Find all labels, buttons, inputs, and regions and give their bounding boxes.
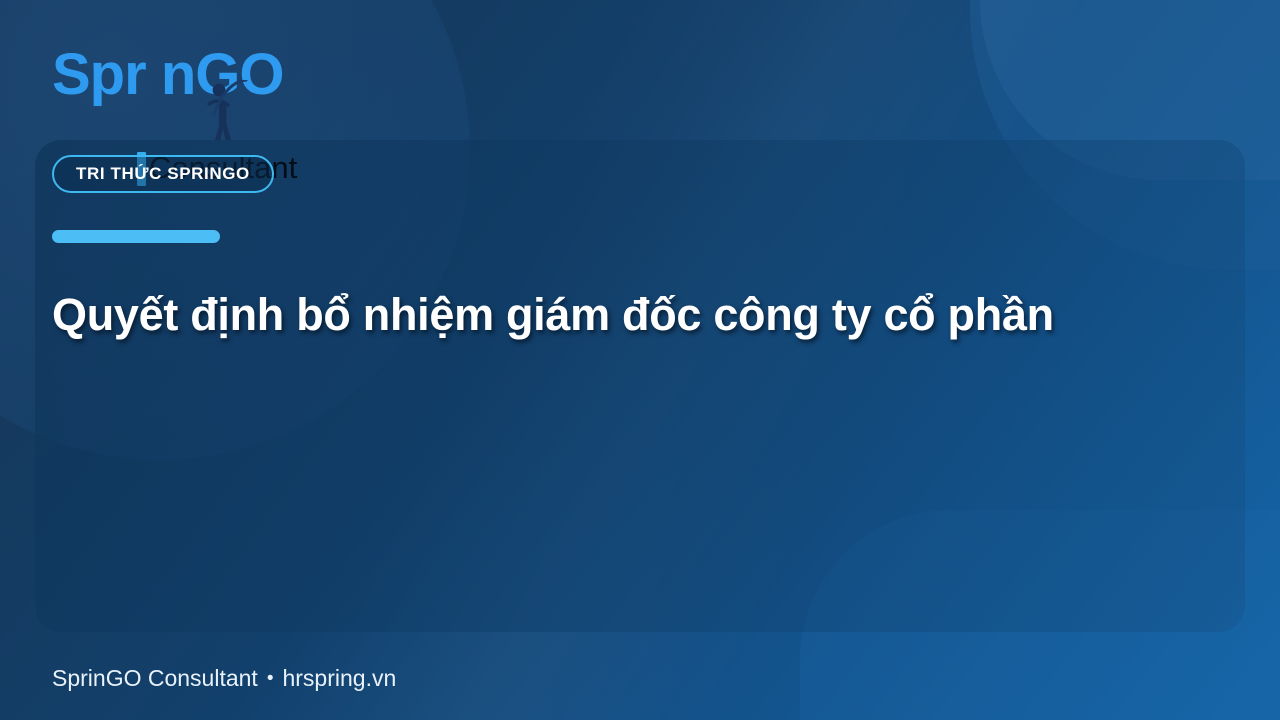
title-accent-bar bbox=[52, 230, 220, 243]
category-badge[interactable]: TRI THỨC SPRINGO bbox=[52, 155, 274, 193]
logo-wordmark: SprinGO bbox=[52, 46, 283, 104]
page-title: Quyết định bổ nhiệm giám đốc công ty cổ … bbox=[52, 288, 1212, 341]
footer-company: SprinGO Consultant bbox=[52, 665, 258, 692]
footer-separator-icon: • bbox=[267, 668, 274, 690]
logo-wordmark-part-gap: i bbox=[146, 42, 161, 107]
category-badge-label: TRI THỨC SPRINGO bbox=[76, 164, 250, 184]
logo-wordmark-part-a: Spr bbox=[52, 42, 146, 107]
content-card bbox=[35, 140, 1245, 632]
footer-website[interactable]: hrspring.vn bbox=[282, 665, 396, 692]
springo-person-figure-icon bbox=[204, 80, 248, 142]
footer: SprinGO Consultant • hrspring.vn bbox=[52, 665, 396, 692]
brand-logo[interactable]: SprinGO Consultant bbox=[52, 46, 352, 142]
slide-canvas: SprinGO Consultant TRI THỨC SPRINGO Quyế… bbox=[0, 0, 1280, 720]
